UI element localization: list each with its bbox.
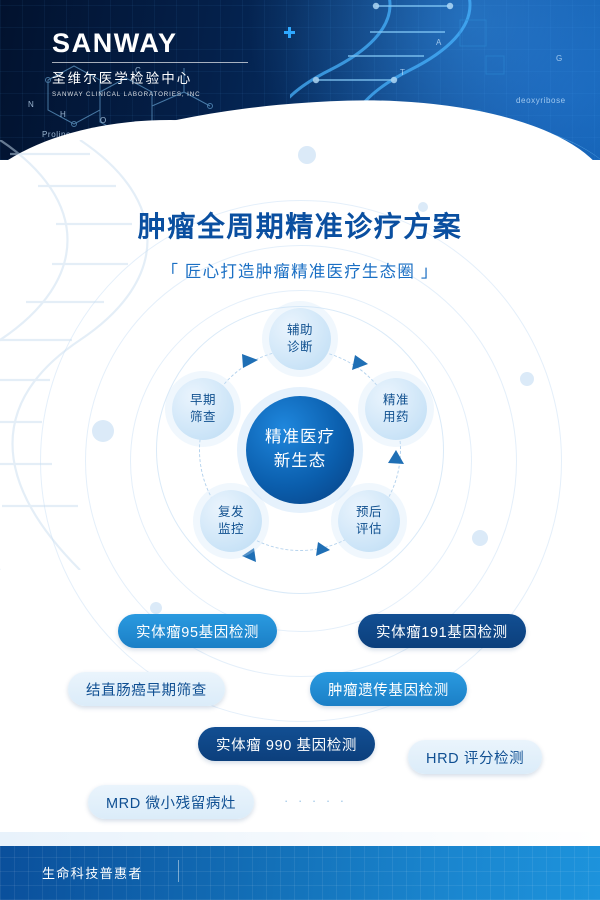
ellipsis-indicator: · · · · · <box>284 793 347 808</box>
footer-divider <box>178 860 179 882</box>
header-banner: deoxyribose guanine Proline C N H O A T … <box>0 0 600 160</box>
product-pill-hrd-score[interactable]: HRD 评分检测 <box>408 740 542 774</box>
cycle-node-prognosis-evaluation[interactable]: 预后 评估 <box>338 490 400 552</box>
cycle-center-line1: 精准医疗 <box>265 426 335 450</box>
brand-logo: SANWAY 圣维尔医学检验中心 SANWAY CLINICAL LABORAT… <box>52 30 282 98</box>
product-pill-solid-tumor-990[interactable]: 实体瘤 990 基因检测 <box>198 727 375 761</box>
node-label-line1: 辅助 <box>287 322 313 339</box>
header-label: H <box>60 110 66 119</box>
node-label-line1: 精准 <box>383 392 409 409</box>
cycle-node-recurrence-monitoring[interactable]: 复发 监控 <box>200 490 262 552</box>
header-label: O <box>100 116 107 125</box>
header-label: A <box>436 38 442 47</box>
node-label-line1: 预后 <box>356 504 382 521</box>
header-label: N <box>28 100 34 109</box>
node-label-line2: 筛查 <box>190 409 216 426</box>
logo-divider <box>52 62 248 63</box>
header-label: T <box>400 68 406 77</box>
cycle-center: 精准医疗 新生态 <box>246 396 354 504</box>
node-label-line2: 评估 <box>356 521 382 538</box>
footer-slogan: 生命科技普惠者 <box>42 863 143 882</box>
header-label: deoxyribose <box>516 96 566 105</box>
cycle-node-auxiliary-diagnosis[interactable]: 辅助 诊断 <box>269 308 331 370</box>
footer-bar: 生命科技普惠者 <box>0 846 600 900</box>
poster-root: deoxyribose guanine Proline C N H O A T … <box>0 0 600 900</box>
footer-top-fade <box>0 832 600 846</box>
product-pill-solid-tumor-191[interactable]: 实体瘤191基因检测 <box>358 614 526 648</box>
cycle-node-early-screening[interactable]: 早期 筛查 <box>172 378 234 440</box>
cycle-node-precision-medication[interactable]: 精准 用药 <box>365 378 427 440</box>
lifecycle-diagram: 精准医疗 新生态 辅助 诊断 精准 用药 预后 评估 复发 监控 早期 筛查 <box>150 300 450 600</box>
node-label-line2: 监控 <box>218 521 244 538</box>
header-label: G <box>556 54 563 63</box>
brand-logo-chinese: 圣维尔医学检验中心 <box>52 67 282 87</box>
node-label-line2: 诊断 <box>287 339 313 356</box>
cycle-center-line2: 新生态 <box>274 450 327 474</box>
medical-cross-icon <box>284 27 295 38</box>
brand-logo-wordmark: SANWAY <box>52 30 178 57</box>
brand-logo-english: SANWAY CLINICAL LABORATORIES, INC <box>52 91 282 98</box>
product-pill-solid-tumor-95[interactable]: 实体瘤95基因检测 <box>118 614 277 648</box>
product-pill-colorectal-screening[interactable]: 结直肠癌早期筛查 <box>68 672 225 706</box>
page-subtitle: 「 匠心打造肿瘤精准医疗生态圈 」 <box>0 258 600 282</box>
product-pill-mrd[interactable]: MRD 微小残留病灶 <box>88 785 254 819</box>
product-pill-hereditary-tumor[interactable]: 肿瘤遗传基因检测 <box>310 672 467 706</box>
node-label-line2: 用药 <box>383 409 409 426</box>
node-label-line1: 早期 <box>190 392 216 409</box>
page-title: 肿瘤全周期精准诊疗方案 <box>0 205 600 245</box>
node-label-line1: 复发 <box>218 504 244 521</box>
